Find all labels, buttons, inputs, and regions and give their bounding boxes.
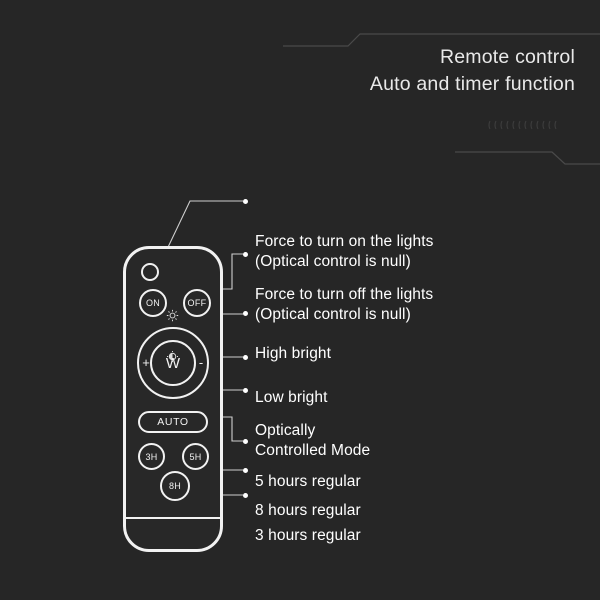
timer-3h-button[interactable]: 3H <box>138 443 165 470</box>
bullet-icon <box>243 199 248 204</box>
sun-icon[interactable] <box>166 309 179 322</box>
bullet-icon <box>243 355 248 360</box>
timer-8h-button[interactable]: 8H <box>160 471 190 501</box>
bullet-icon <box>243 439 248 444</box>
title-line-2: Auto and timer function <box>370 71 575 98</box>
off-button[interactable]: OFF <box>183 289 211 317</box>
title-line-1: Remote control <box>370 44 575 71</box>
timer-5h-button[interactable]: 5H <box>182 443 209 470</box>
deco-tick-marks <box>489 121 556 129</box>
remote-bottom-divider <box>126 517 220 519</box>
bullet-icon <box>243 468 248 473</box>
remote-control-body: ON OFF + - W AUTO 3H 5H 8H <box>123 246 223 552</box>
annotation-timer-3h-text: 3 hours regular <box>255 527 361 544</box>
brightness-down-button[interactable]: - <box>195 355 207 370</box>
annotation-timer-3h: 3 hours regular <box>255 486 361 546</box>
auto-button[interactable]: AUTO <box>138 411 208 433</box>
center-w-button[interactable]: W <box>150 340 196 386</box>
off-button-label: OFF <box>188 298 207 308</box>
bullet-icon <box>243 388 248 393</box>
on-button[interactable]: ON <box>139 289 167 317</box>
timer-5h-label: 5H <box>189 452 201 462</box>
timer-8h-label: 8H <box>169 481 181 491</box>
bullet-icon <box>243 311 248 316</box>
ir-emitter-icon <box>141 263 159 281</box>
timer-3h-label: 3H <box>145 452 157 462</box>
deco-line-bottom <box>455 152 600 164</box>
on-button-label: ON <box>146 298 160 308</box>
diagram-canvas: Remote control Auto and timer function O… <box>0 0 600 600</box>
bullet-icon <box>243 493 248 498</box>
center-w-label: W <box>166 355 180 372</box>
page-title: Remote control Auto and timer function <box>370 44 575 98</box>
bullet-icon <box>243 252 248 257</box>
auto-button-label: AUTO <box>157 416 188 428</box>
